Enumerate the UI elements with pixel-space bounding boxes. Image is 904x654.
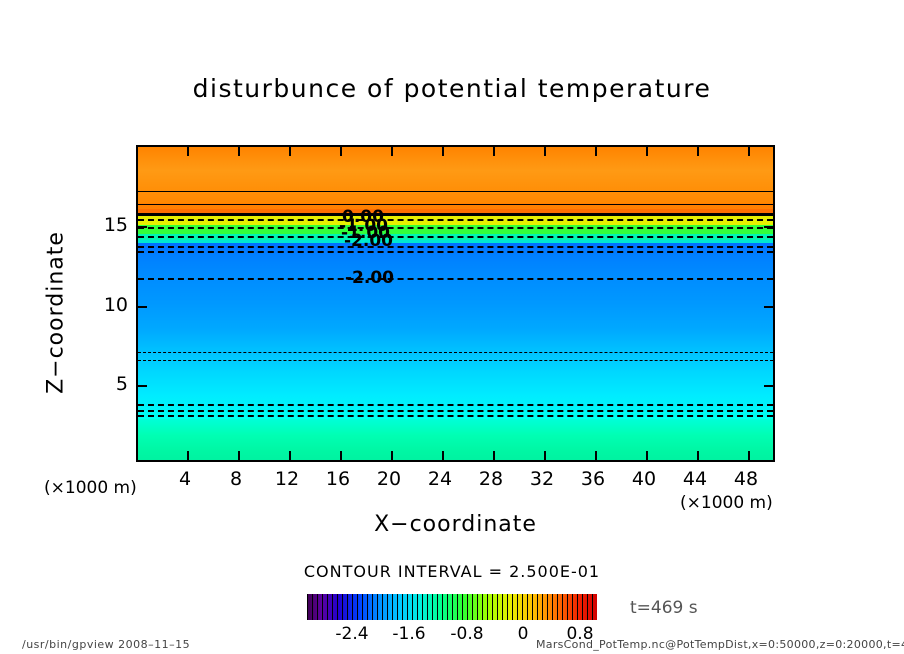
- layer-blue: [138, 277, 773, 329]
- xtick-44: [697, 451, 699, 460]
- contour-dash-y1: [138, 219, 773, 221]
- layer-lightblue: [138, 329, 773, 373]
- contour-dash-g1: [138, 404, 773, 406]
- ytick-right-5: [764, 385, 773, 387]
- contour-dash-y3: [138, 236, 773, 238]
- colorbar-ticklabel-2: -0.8: [442, 624, 492, 644]
- colorbar[interactable]: [307, 594, 597, 620]
- xtick-40: [646, 451, 648, 460]
- xticklabel-48: 48: [726, 468, 766, 490]
- contour-plot-area[interactable]: 0.00 -1.00 -1.00 -2.00 -2.00: [136, 145, 775, 462]
- xtick-top-8: [238, 147, 240, 156]
- layer-deep-blue: [138, 243, 773, 277]
- layer-orange-top: [138, 147, 773, 203]
- ytick-15: [138, 226, 147, 228]
- xtick-top-28: [493, 147, 495, 156]
- xticklabel-36: 36: [573, 468, 613, 490]
- contour-line-solid-upper2: [138, 204, 773, 205]
- xtick-24: [442, 451, 444, 460]
- xtick-28: [493, 451, 495, 460]
- xtick-top-12: [289, 147, 291, 156]
- contour-dash-b2: [138, 251, 773, 253]
- colorbar-gradient: [307, 594, 597, 620]
- contour-label-4: -2.00: [345, 268, 394, 288]
- xtick-4: [187, 451, 189, 460]
- layer-cyan: [138, 373, 773, 419]
- contour-dash-b3: [138, 278, 773, 280]
- contour-dash-b1: [138, 246, 773, 248]
- contour-dash-y2: [138, 227, 773, 229]
- xtick-16: [340, 451, 342, 460]
- xticklabel-28: 28: [471, 468, 511, 490]
- x-unit-right-label: (×1000 m): [680, 493, 773, 513]
- layer-green-bottom: [138, 419, 773, 462]
- ytick-right-10: [764, 306, 773, 308]
- contour-interval-label: CONTOUR INTERVAL = 2.500E-01: [0, 562, 904, 581]
- footer-command-label: /usr/bin/gpview 2008–11–15: [22, 638, 190, 651]
- xtick-32: [544, 451, 546, 460]
- xtick-top-36: [595, 147, 597, 156]
- xticklabel-4: 4: [165, 468, 205, 490]
- xtick-top-20: [391, 147, 393, 156]
- contour-dash-c1: [138, 352, 773, 353]
- y-axis-title: Z−coordinate: [44, 223, 69, 403]
- time-label: t=469 s: [630, 598, 698, 618]
- ytick-5: [138, 385, 147, 387]
- contour-dash-g3: [138, 415, 773, 417]
- yticklabel-5: 5: [96, 373, 128, 395]
- xtick-48: [748, 451, 750, 460]
- contour-dash-g2: [138, 410, 773, 412]
- xtick-8: [238, 451, 240, 460]
- xticklabel-32: 32: [522, 468, 562, 490]
- ytick-right-15: [764, 226, 773, 228]
- contour-dash-c2: [138, 360, 773, 361]
- contour-label-3: -2.00: [344, 231, 393, 251]
- colorbar-ticklabel-0: -2.4: [327, 624, 377, 644]
- contour-line-solid-upper: [138, 191, 773, 192]
- xtick-top-40: [646, 147, 648, 156]
- xticklabel-44: 44: [675, 468, 715, 490]
- footer-source-label: MarsCond_PotTemp.nc@PotTempDist,x=0:5000…: [536, 638, 904, 651]
- xticklabel-24: 24: [420, 468, 460, 490]
- colorbar-ticklabel-1: -1.6: [384, 624, 434, 644]
- xtick-top-4: [187, 147, 189, 156]
- xticklabel-12: 12: [267, 468, 307, 490]
- xtick-12: [289, 451, 291, 460]
- xticklabel-20: 20: [369, 468, 409, 490]
- xticklabel-16: 16: [318, 468, 358, 490]
- xtick-top-48: [748, 147, 750, 156]
- xticklabel-40: 40: [624, 468, 664, 490]
- yticklabel-15: 15: [96, 214, 128, 236]
- ytick-10: [138, 306, 147, 308]
- yticklabel-10: 10: [96, 294, 128, 316]
- xtick-top-16: [340, 147, 342, 156]
- x-unit-left-label: (×1000 m): [44, 478, 137, 498]
- x-axis-title: X−coordinate: [136, 512, 775, 537]
- xtick-top-24: [442, 147, 444, 156]
- xtick-20: [391, 451, 393, 460]
- xtick-36: [595, 451, 597, 460]
- page-title: disturbunce of potential temperature: [0, 74, 904, 103]
- contour-fill: [138, 147, 773, 460]
- xtick-top-32: [544, 147, 546, 156]
- xticklabel-8: 8: [216, 468, 256, 490]
- xtick-top-44: [697, 147, 699, 156]
